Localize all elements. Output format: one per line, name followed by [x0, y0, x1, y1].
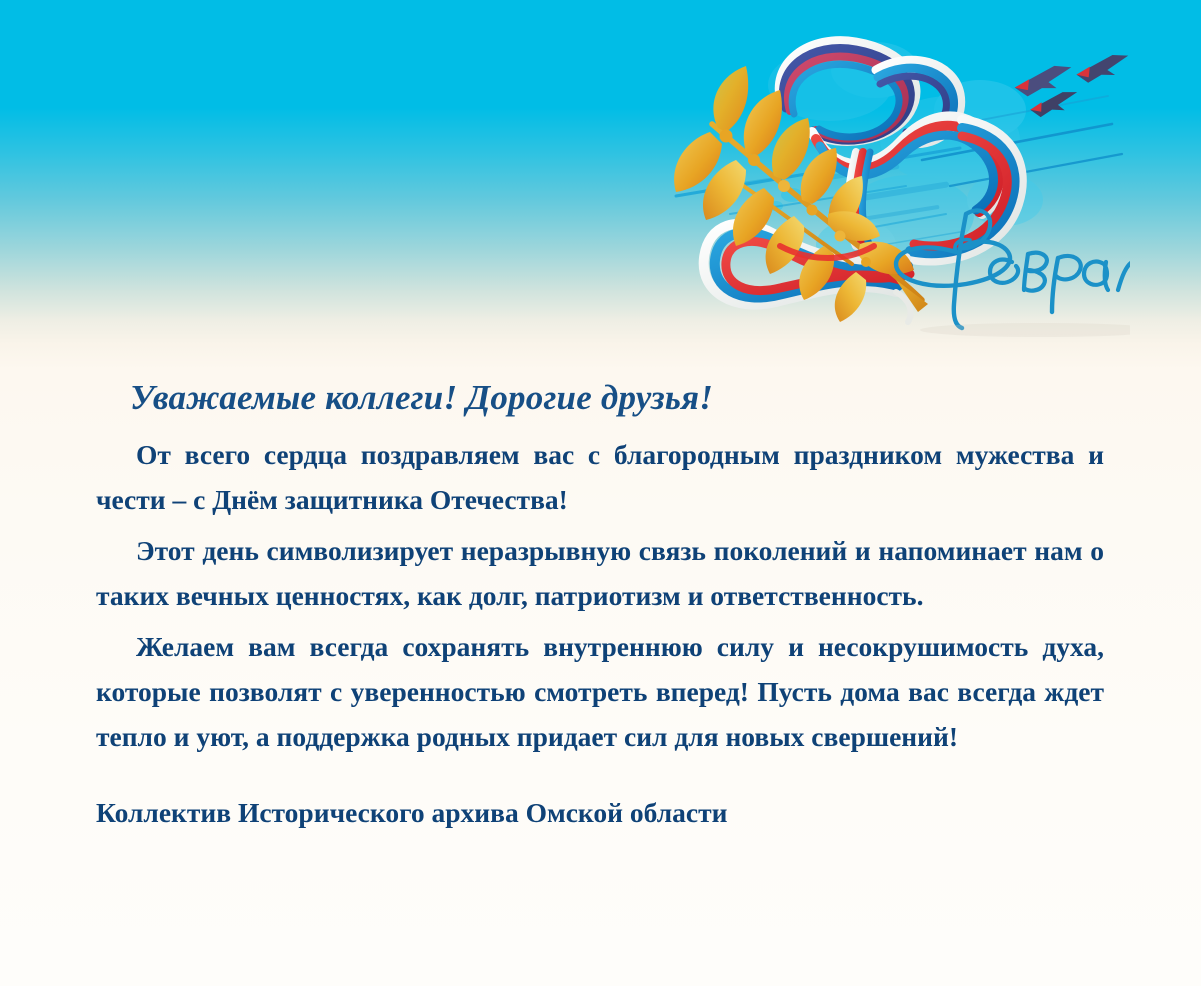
script-shadow	[920, 323, 1130, 337]
ribbon-upper-loop	[779, 41, 916, 142]
paragraph-3: Желаем вам всегда сохранять внутреннюю с…	[96, 624, 1104, 759]
ribbon-tail	[704, 224, 911, 322]
cloud-blobs-accent	[769, 188, 909, 292]
speed-lines	[676, 96, 1122, 246]
fighter-jets	[1012, 51, 1130, 119]
greeting-card: Уважаемые коллеги! Дорогие друзья! От вс…	[0, 0, 1201, 986]
23-fevralya-emblem	[660, 0, 1130, 345]
greeting-heading: Уважаемые коллеги! Дорогие друзья!	[96, 376, 1104, 420]
ribbon-inner-loop	[876, 60, 961, 143]
script-fevralya	[896, 210, 1130, 328]
paragraph-1: От всего сердца поздравляем вас с благор…	[96, 432, 1104, 522]
paragraph-2: Этот день символизирует неразрывную связ…	[96, 528, 1104, 618]
tricolor-ribbon-23	[704, 41, 1022, 322]
message-body: Уважаемые коллеги! Дорогие друзья! От вс…	[96, 376, 1104, 831]
ribbon-red-accent	[780, 246, 874, 258]
cloud-blobs	[768, 42, 1043, 271]
ribbon-right-belly	[906, 120, 1022, 261]
ribbon-connector	[848, 152, 870, 246]
golden-laurel-branch	[674, 66, 928, 322]
signature-line: Коллектив Исторического архива Омской об…	[96, 795, 1104, 831]
speed-bars	[810, 164, 949, 222]
ribbon-mid-sweep	[812, 116, 1004, 214]
